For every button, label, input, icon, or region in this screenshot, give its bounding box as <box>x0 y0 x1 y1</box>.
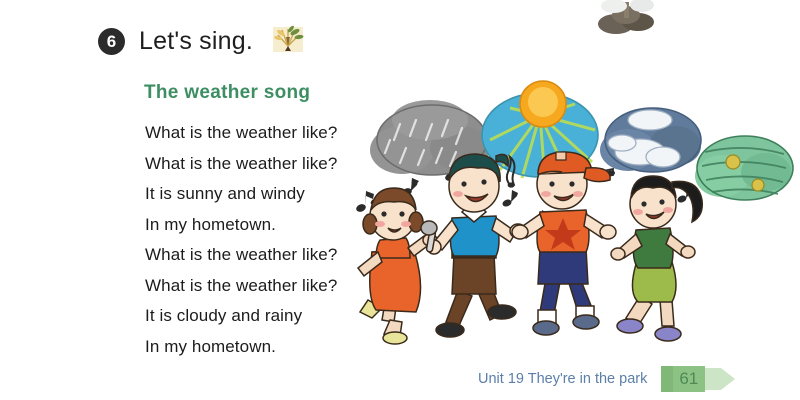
cloudy-icon <box>600 108 701 172</box>
page-number: 61 <box>679 369 698 389</box>
textbook-page: 6 Let's sing. The weather song What is t <box>0 0 800 400</box>
activity-title: Let's sing. <box>139 27 253 56</box>
activity-header: 6 Let's sing. <box>98 26 305 56</box>
page-number-banner: 61 <box>659 364 737 394</box>
child-boy-orange-cap <box>512 152 616 335</box>
child-boy-blue-shirt <box>421 154 526 337</box>
song-title: The weather song <box>144 82 310 104</box>
page-banner-ribbon-icon <box>659 364 737 394</box>
weather-song-illustration <box>350 0 800 360</box>
windy-icon <box>695 136 793 200</box>
page-footer: Unit 19 They're in the park 61 <box>478 364 737 394</box>
child-girl-green-top <box>611 176 702 341</box>
footer-unit-label: Unit 19 They're in the park <box>478 371 647 387</box>
child-girl-orange-dress <box>358 188 437 344</box>
activity-number-badge: 6 <box>98 28 125 55</box>
sparkle-icon <box>271 24 305 54</box>
